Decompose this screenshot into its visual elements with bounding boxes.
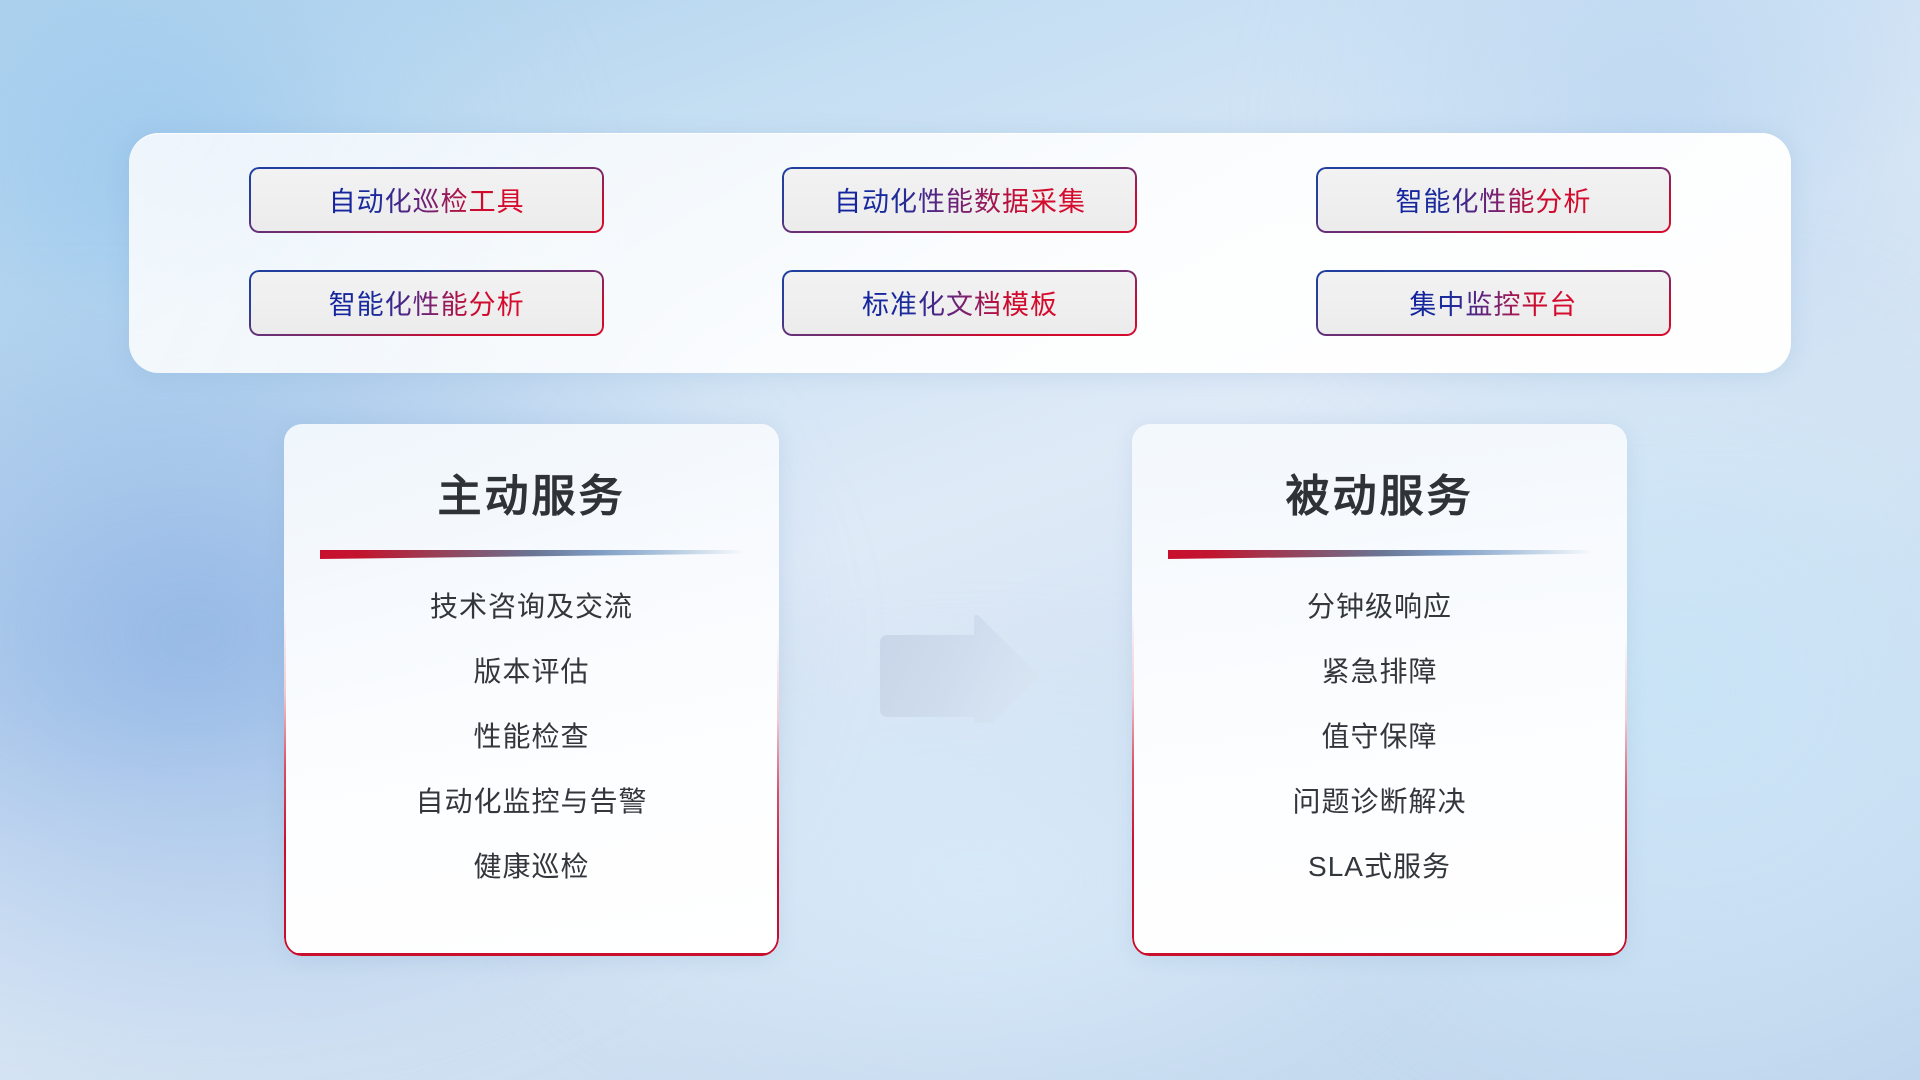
list-item: 值守保障 [1321,715,1437,755]
capability-tag-label: 集中监控平台 [1409,283,1577,322]
arrow-right-icon [872,613,1040,723]
service-card-item-list: 分钟级响应 紧急排障 值守保障 问题诊断解决 SLA式服务 [1132,585,1627,885]
capability-tag-cell: 标准化文档模板 [730,262,1189,343]
capability-tag-automation-inspection-tool[interactable]: 自动化巡检工具 [249,167,604,233]
list-item: 版本评估 [473,650,589,690]
service-card-passive: 被动服务 分钟级响应 紧急排障 值守保障 问题诊断解决 SLA式服务 [1132,424,1627,956]
capability-tag-label: 智能化性能分析 [329,283,525,322]
capability-tag-grid: 自动化巡检工具 自动化性能数据采集 智能化性能分析 智能化性能分析 标准化文档模… [129,133,1791,373]
capability-tag-cell: 智能化性能分析 [1264,159,1723,240]
service-card-active: 主动服务 技术咨询及交流 版本评估 性能检查 自动化监控与告警 健康巡检 [284,424,779,956]
service-card-item-list: 技术咨询及交流 版本评估 性能检查 自动化监控与告警 健康巡检 [284,585,779,885]
capability-tag-centralized-monitoring-platform[interactable]: 集中监控平台 [1316,270,1671,336]
service-card-divider [320,550,744,559]
capability-tag-automated-performance-data-collection[interactable]: 自动化性能数据采集 [782,167,1137,233]
capability-tag-intelligent-performance-analysis-2[interactable]: 智能化性能分析 [249,270,604,336]
capability-tag-cell: 智能化性能分析 [197,262,656,343]
capability-tag-cell: 自动化性能数据采集 [730,159,1189,240]
list-item: 技术咨询及交流 [430,585,633,625]
capability-tag-standardized-document-template[interactable]: 标准化文档模板 [782,270,1137,336]
service-card-divider [1168,550,1592,559]
list-item: 自动化监控与告警 [415,780,647,820]
capability-tag-label: 标准化文档模板 [862,283,1058,322]
list-item: 问题诊断解决 [1292,780,1466,820]
capability-tag-cell: 集中监控平台 [1264,262,1723,343]
list-item: 健康巡检 [473,845,589,885]
divider-bar [320,550,744,559]
capability-tag-intelligent-performance-analysis-1[interactable]: 智能化性能分析 [1316,167,1671,233]
service-card-title: 主动服务 [284,460,779,524]
capability-tag-label: 自动化巡检工具 [329,180,525,219]
list-item: 性能检查 [473,715,589,755]
list-item: SLA式服务 [1308,845,1451,885]
list-item: 分钟级响应 [1307,585,1452,625]
capability-panel: 自动化巡检工具 自动化性能数据采集 智能化性能分析 智能化性能分析 标准化文档模… [129,133,1791,373]
capability-tag-cell: 自动化巡检工具 [197,159,656,240]
divider-bar [1168,550,1592,559]
service-card-title: 被动服务 [1132,460,1627,524]
capability-tag-label: 智能化性能分析 [1395,180,1591,219]
list-item: 紧急排障 [1321,650,1437,690]
capability-tag-label: 自动化性能数据采集 [834,180,1086,219]
